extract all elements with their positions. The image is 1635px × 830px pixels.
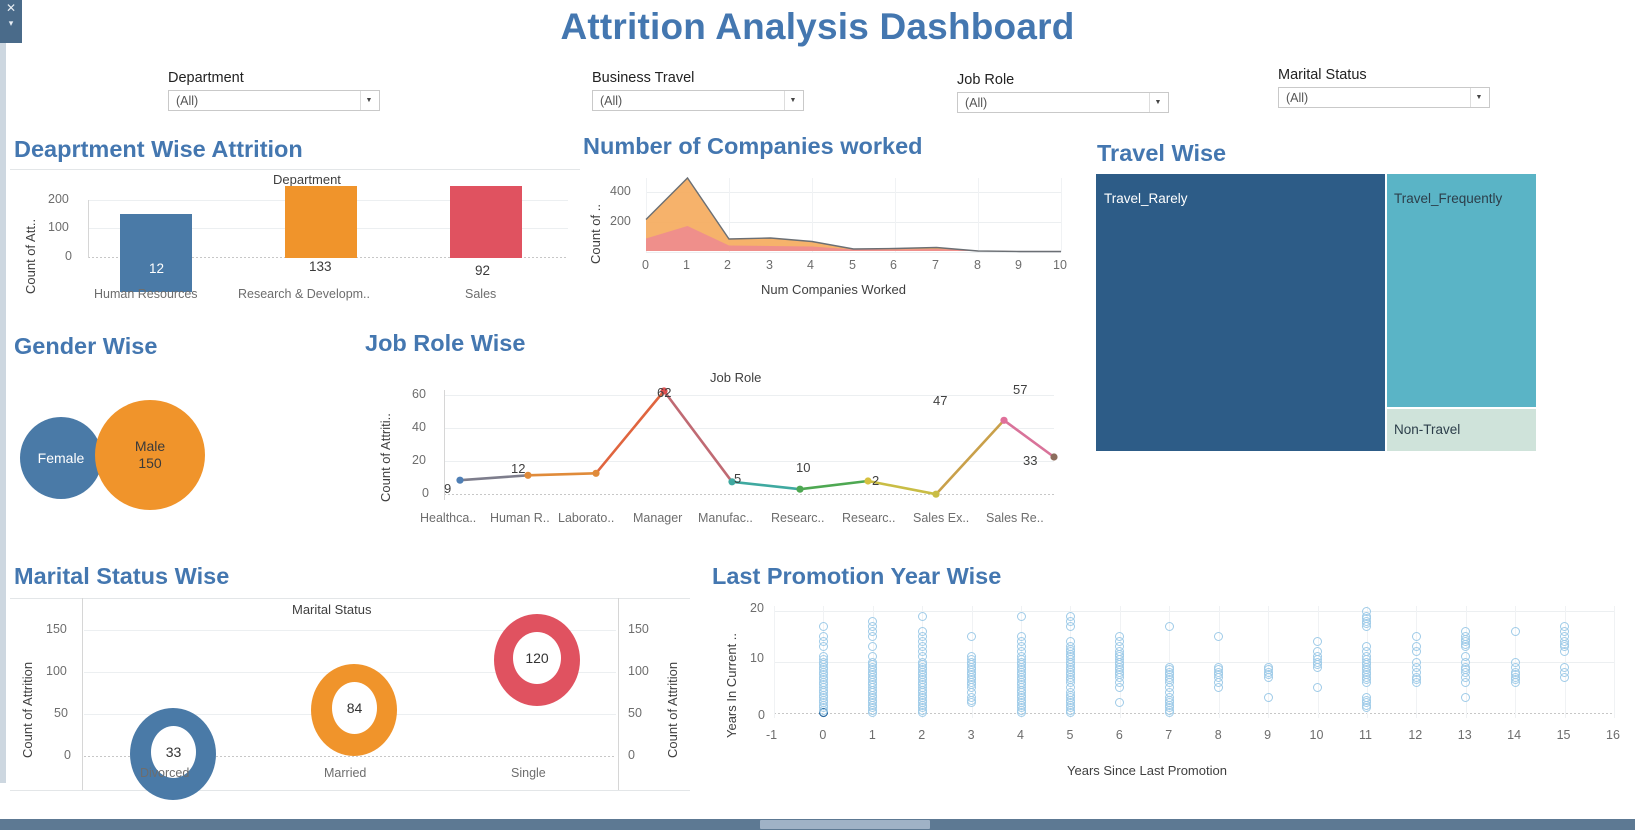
x-tick: 8: [1215, 728, 1222, 742]
chart-companies-ylabel: Count of ..: [588, 182, 603, 264]
x-tick: Research & Developm..: [238, 287, 370, 301]
scatter-point[interactable]: [1264, 663, 1273, 672]
scatter-point[interactable]: [1165, 663, 1174, 672]
x-tick: Sales Re..: [986, 511, 1044, 525]
x-tick: 1: [869, 728, 876, 742]
y-tick: 400: [610, 184, 631, 198]
treemap-label-travel-frequently: Travel_Frequently: [1394, 191, 1502, 206]
y-tick: 20: [412, 453, 426, 467]
point-value-label: 2: [872, 473, 879, 488]
gridline: [774, 662, 1614, 663]
scatter-point[interactable]: [967, 632, 976, 641]
x-tick: 7: [932, 258, 939, 272]
y-tick: 0: [64, 748, 71, 762]
point-value-label: 33: [1023, 453, 1037, 468]
x-tick: Researc..: [842, 511, 896, 525]
filter-department-dropdown[interactable]: (All) ▼: [168, 90, 380, 111]
chart-department-title: Department: [273, 172, 341, 187]
line-point: [592, 470, 599, 477]
filter-job-role-label: Job Role: [957, 72, 1169, 88]
x-tick: 5: [849, 258, 856, 272]
scatter-point[interactable]: [1412, 642, 1421, 651]
scatter-point[interactable]: [1461, 693, 1470, 702]
point-value-label: 5: [734, 471, 741, 486]
filter-job-role-value: (All): [965, 96, 987, 110]
scatter-point[interactable]: [1214, 632, 1223, 641]
scatter-point[interactable]: [819, 632, 828, 641]
panel-title-companies: Number of Companies worked: [583, 133, 923, 160]
filter-job-role: Job Role (All) ▼: [957, 72, 1169, 113]
chart-jobrole-ylabel: Count of Attriti..: [378, 386, 393, 502]
scatter-point[interactable]: [819, 622, 828, 631]
y-tick: 0: [758, 708, 765, 722]
chart-marital-ylabel: Count of Attrition: [20, 618, 35, 758]
chart-department-wise-attrition[interactable]: Department Count of Att.. 200 100 0 12 1…: [10, 172, 580, 312]
scatter-point[interactable]: [1066, 612, 1075, 621]
chart-last-promotion-year-wise[interactable]: Years In Current .. 20 10 0 -10123456789…: [712, 596, 1627, 796]
chart-companies-xlabel: Num Companies Worked: [761, 282, 906, 297]
chevron-down-icon[interactable]: ▼: [784, 91, 801, 110]
panel-title-travel: Travel Wise: [1097, 140, 1226, 167]
x-tick: 8: [974, 258, 981, 272]
scatter-plot-area: [774, 606, 1614, 718]
x-tick: 5: [1066, 728, 1073, 742]
y-tick: 20: [750, 601, 764, 615]
gridline: [774, 606, 775, 718]
x-tick: 15: [1557, 728, 1571, 742]
bar-sales[interactable]: [450, 186, 522, 258]
scatter-point[interactable]: [1560, 622, 1569, 631]
treemap-cell-travel-rarely[interactable]: [1096, 174, 1385, 451]
x-tick: Healthca..: [420, 511, 476, 525]
x-tick: 3: [766, 258, 773, 272]
x-tick: 11: [1359, 728, 1372, 742]
chart-marital-title: Marital Status: [292, 602, 371, 617]
area-chart-svg: [646, 170, 1071, 254]
donut-single-value: 120: [525, 650, 548, 666]
scatter-point[interactable]: [1511, 658, 1520, 667]
chart-promotion-xlabel: Years Since Last Promotion: [1067, 763, 1227, 778]
scatter-point[interactable]: [1313, 683, 1322, 692]
horizontal-scrollbar-thumb[interactable]: [760, 820, 930, 829]
chart-jobrole-title: Job Role: [710, 370, 761, 385]
y-tick: 10: [750, 651, 764, 665]
filter-marital-status: Marital Status (All) ▼: [1278, 67, 1490, 108]
scatter-point[interactable]: [1412, 632, 1421, 641]
bar-value-label: 133: [309, 259, 332, 274]
chart-gender-wise[interactable]: Female Male 150: [10, 380, 360, 530]
scatter-point[interactable]: [1214, 663, 1223, 672]
bar-research-development[interactable]: [285, 186, 357, 258]
x-tick: Manufac..: [698, 511, 753, 525]
filter-business-travel-value: (All): [600, 94, 622, 108]
x-tick: 7: [1165, 728, 1172, 742]
x-tick: 4: [1017, 728, 1024, 742]
scatter-point[interactable]: [1017, 612, 1026, 621]
bar-human-resources[interactable]: [120, 214, 192, 292]
treemap-label-travel-rarely: Travel_Rarely: [1104, 191, 1188, 206]
chart-number-of-companies-worked[interactable]: Count of .. 400 200 0 1 2 3 4 5 6 7 8 9 …: [578, 170, 1068, 310]
filter-department-label: Department: [168, 70, 380, 86]
x-tick: Human R..: [490, 511, 550, 525]
y-tick: 100: [46, 664, 67, 678]
point-value-label: 62: [657, 385, 671, 400]
scatter-point[interactable]: [1115, 698, 1124, 707]
bubble-male[interactable]: Male 150: [95, 400, 205, 510]
y-tick: 100: [48, 220, 69, 234]
gridline: [774, 713, 1614, 714]
point-value-label: 9: [444, 481, 451, 496]
x-tick: 13: [1458, 728, 1472, 742]
bar-value-label: 12: [149, 261, 164, 276]
chart-marital-ylabel-right: Count of Attrition: [665, 618, 680, 758]
bubble-male-value: 150: [138, 455, 161, 472]
gridline: [1219, 606, 1220, 718]
scatter-point[interactable]: [1313, 637, 1322, 646]
scatter-point[interactable]: [1412, 658, 1421, 667]
donut-single-value-container: 120: [513, 632, 561, 684]
scatter-point[interactable]: [1560, 663, 1569, 672]
x-tick: 14: [1507, 728, 1521, 742]
x-tick: 4: [807, 258, 814, 272]
scatter-point[interactable]: [1165, 622, 1174, 631]
bubble-male-label: Male: [135, 438, 165, 455]
left-rail: [0, 43, 6, 783]
point-value-label: 12: [511, 461, 525, 476]
line-point: [1050, 453, 1057, 460]
horizontal-scrollbar[interactable]: [0, 819, 1635, 830]
y-tick: 50: [54, 706, 68, 720]
filter-marital-status-dropdown[interactable]: (All) ▼: [1278, 87, 1490, 108]
chevron-down-icon[interactable]: ▼: [360, 91, 377, 110]
panel-title-jobrole: Job Role Wise: [365, 330, 525, 357]
x-tick: Divorced: [140, 766, 189, 780]
filter-business-travel-label: Business Travel: [592, 70, 804, 86]
donut-married-value-container: 84: [332, 682, 377, 734]
x-tick: 0: [642, 258, 649, 272]
x-tick: 1: [683, 258, 690, 272]
x-tick: Laborato..: [558, 511, 614, 525]
x-tick: Manager: [633, 511, 682, 525]
y-tick-right: 50: [628, 706, 642, 720]
treemap-cell-travel-frequently[interactable]: [1387, 174, 1536, 407]
y-tick: 200: [48, 192, 69, 206]
bar-value-label: 92: [475, 263, 490, 278]
chart-travel-wise[interactable]: Travel_Rarely Travel_Frequently Non-Trav…: [1096, 174, 1536, 451]
x-tick: Human Resources: [94, 287, 198, 301]
chevron-down-icon[interactable]: ▼: [1149, 93, 1166, 112]
treemap-label-non-travel: Non-Travel: [1394, 422, 1460, 437]
donut-married-value: 84: [347, 700, 363, 716]
panel-title-department: Deaprtment Wise Attrition: [14, 136, 303, 163]
bubble-female[interactable]: Female: [20, 417, 102, 499]
gridline: [1614, 606, 1615, 718]
x-tick: 2: [724, 258, 731, 272]
y-tick: 40: [412, 420, 426, 434]
donut-divorced-value: 33: [166, 744, 182, 760]
chart-department-ylabel: Count of Att..: [23, 194, 38, 294]
x-tick: 10: [1310, 728, 1324, 742]
x-tick: 6: [890, 258, 897, 272]
x-tick: Sales Ex..: [913, 511, 969, 525]
y-tick-right: 0: [628, 748, 635, 762]
gridline: [774, 611, 1614, 612]
x-tick: Researc..: [771, 511, 825, 525]
x-tick: 0: [819, 728, 826, 742]
x-tick: 16: [1606, 728, 1620, 742]
y-tick-right: 100: [628, 664, 649, 678]
panel-title-promotion: Last Promotion Year Wise: [712, 563, 1001, 590]
point-value-label: 57: [1013, 382, 1027, 397]
scatter-point[interactable]: [1264, 693, 1273, 702]
x-tick: 9: [1015, 258, 1022, 272]
filter-business-travel-dropdown[interactable]: (All) ▼: [592, 90, 804, 111]
panel-title-marital: Marital Status Wise: [14, 563, 229, 590]
x-tick: 3: [968, 728, 975, 742]
x-tick: 6: [1116, 728, 1123, 742]
y-tick: 200: [610, 214, 631, 228]
x-tick: 10: [1053, 258, 1067, 272]
scatter-point[interactable]: [918, 627, 927, 636]
scatter-x-axis: -1012345678910111213141516: [774, 728, 1614, 748]
x-tick: 12: [1408, 728, 1422, 742]
point-value-label: 47: [933, 393, 947, 408]
y-tick: 150: [46, 622, 67, 636]
x-tick: Sales: [465, 287, 496, 301]
x-tick: Single: [511, 766, 546, 780]
x-tick: 2: [918, 728, 925, 742]
filter-marital-status-value: (All): [1286, 91, 1308, 105]
chart-job-role-wise[interactable]: Job Role Count of Attriti.. 60 40 20 0: [368, 366, 1068, 536]
chart-marital-status-wise[interactable]: Marital Status Count of Attrition Count …: [10, 598, 690, 798]
filter-department: Department (All) ▼: [168, 70, 380, 111]
page-title: Attrition Analysis Dashboard: [0, 6, 1635, 48]
filter-department-value: (All): [176, 94, 198, 108]
x-tick: Married: [324, 766, 366, 780]
filter-business-travel: Business Travel (All) ▼: [592, 70, 804, 111]
y-tick: 0: [65, 249, 72, 263]
chart-promotion-ylabel: Years In Current ..: [724, 608, 739, 738]
filter-job-role-dropdown[interactable]: (All) ▼: [957, 92, 1169, 113]
scatter-point[interactable]: [1362, 607, 1371, 616]
point-value-label: 10: [796, 460, 810, 475]
bubble-female-label: Female: [38, 450, 85, 467]
chevron-down-icon[interactable]: ▼: [1470, 88, 1487, 107]
y-tick: 0: [422, 486, 429, 500]
x-tick: -1: [766, 728, 777, 742]
scatter-point[interactable]: [868, 642, 877, 651]
scatter-point[interactable]: [1511, 627, 1520, 636]
scatter-point[interactable]: [1017, 632, 1026, 641]
filter-marital-status-label: Marital Status: [1278, 67, 1490, 83]
scatter-point[interactable]: [918, 612, 927, 621]
x-tick: 9: [1264, 728, 1271, 742]
y-tick-right: 150: [628, 622, 649, 636]
panel-title-gender: Gender Wise: [14, 333, 157, 360]
y-tick: 60: [412, 387, 426, 401]
